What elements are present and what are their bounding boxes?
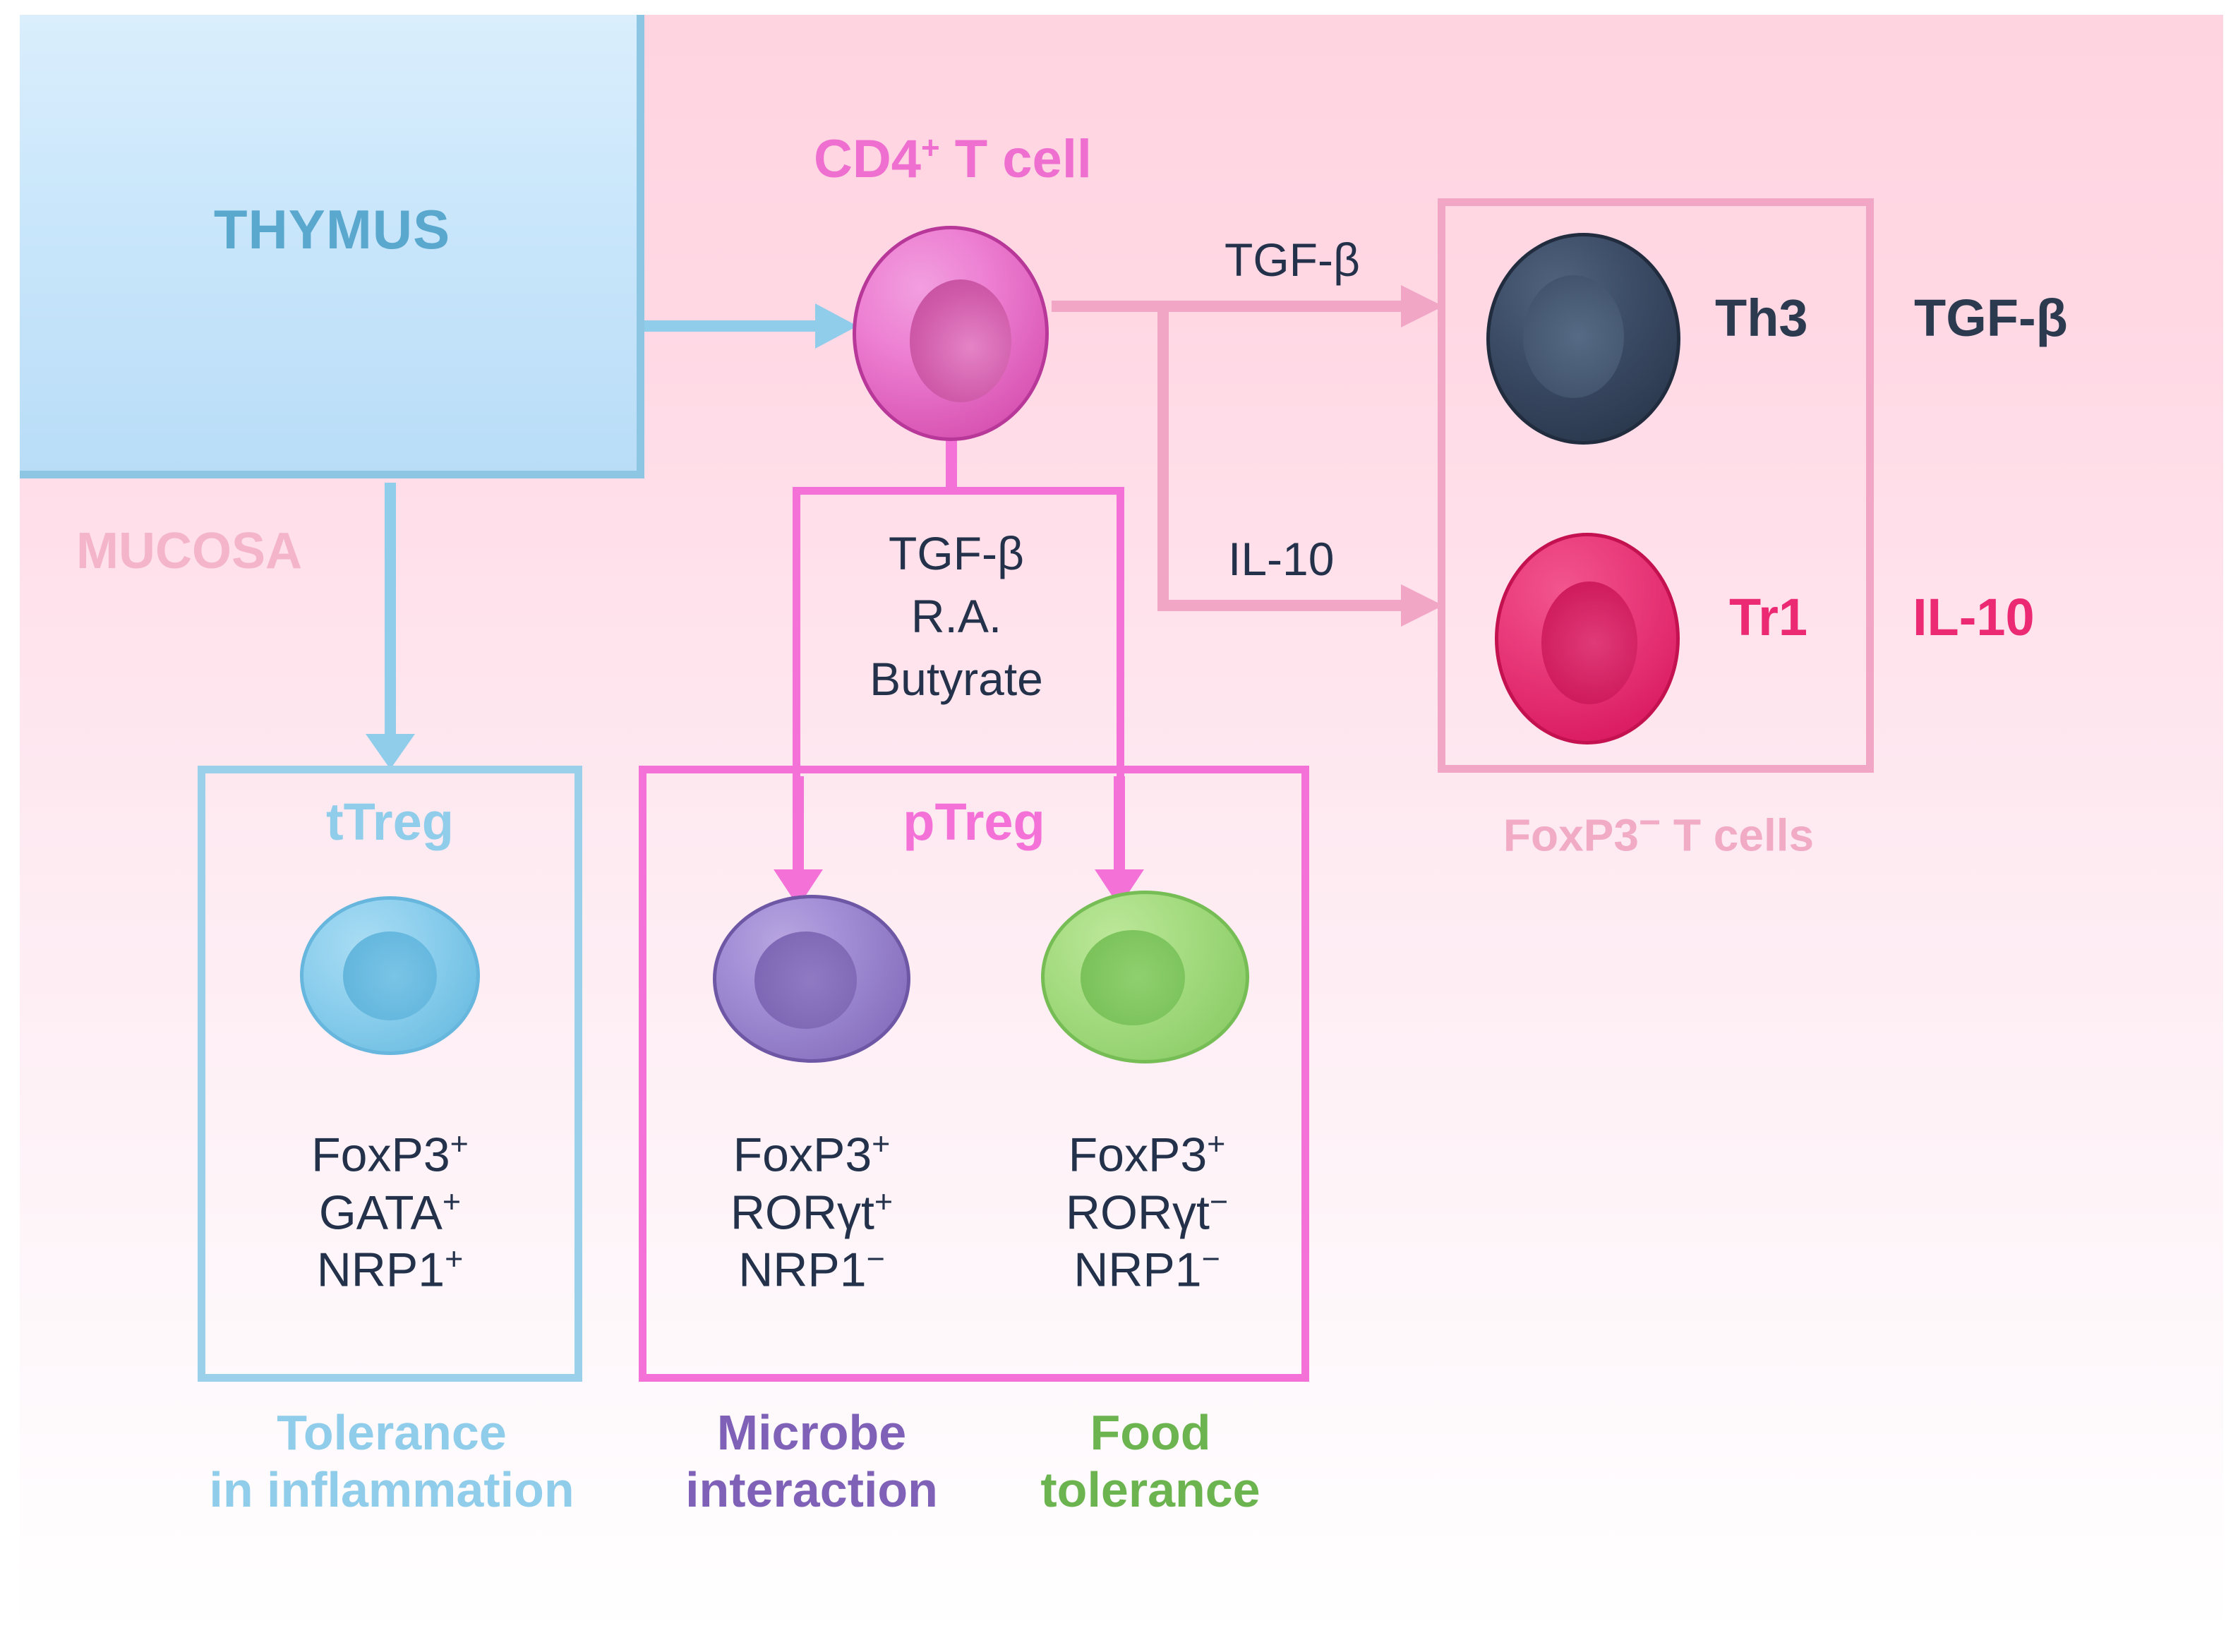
th3-cytokine-label: TGF-β	[1914, 288, 2068, 348]
function-line-1: Microbe	[635, 1404, 988, 1461]
tr1-cell-label: Tr1	[1729, 587, 1807, 647]
cell-nucleus	[1523, 275, 1624, 398]
cell-nucleus	[754, 931, 858, 1029]
cd4-t-cell-label-superscript: +	[921, 130, 940, 166]
marker-item: NRP1−	[670, 1241, 953, 1298]
marker-sign: −	[1639, 802, 1661, 843]
ttreg-cell-icon	[300, 896, 480, 1055]
marker-sign: +	[872, 1126, 890, 1162]
tr1-cytokine-label: IL-10	[1913, 587, 2035, 647]
mucosa-label: MUCOSA	[76, 522, 302, 580]
function-line-2: tolerance	[995, 1461, 1306, 1519]
ptreg-panel-title: pTreg	[639, 792, 1309, 852]
diagram-canvas: THYMUS MUCOSA CD4+ T cell TGF-β IL-10 TG…	[0, 0, 2238, 1652]
ttreg-function-caption: Tolerance in inflammation	[155, 1404, 628, 1518]
cell-nucleus	[1081, 930, 1185, 1025]
function-line-2: in inflammation	[155, 1461, 628, 1519]
marker-item: GATA+	[198, 1183, 582, 1241]
marker-sign: −	[1210, 1183, 1228, 1219]
function-line-2: interaction	[635, 1461, 988, 1519]
ptreg-food-marker-list: FoxP3+ RORγt− NRP1−	[1002, 1126, 1292, 1298]
cell-nucleus	[1541, 581, 1637, 704]
ttreg-marker-list: FoxP3+ GATA+ NRP1+	[198, 1126, 582, 1298]
marker-sign: +	[443, 1183, 461, 1219]
marker-item: RORγt−	[1002, 1183, 1292, 1241]
ptreg-microbe-cell-icon	[713, 895, 910, 1063]
function-line-1: Tolerance	[155, 1404, 628, 1461]
marker-sign: +	[1207, 1126, 1225, 1162]
tr1-cell-icon	[1495, 533, 1680, 744]
cell-nucleus	[910, 279, 1012, 402]
marker-item: NRP1+	[198, 1241, 582, 1298]
marker-item: RORγt+	[670, 1183, 953, 1241]
th3-cell-icon	[1486, 233, 1680, 445]
cd4-t-cell-label-suffix: T cell	[940, 129, 1092, 189]
cd4-t-cell-label-prefix: CD4	[814, 129, 921, 189]
ptreg-microbe-function-caption: Microbe interaction	[635, 1404, 988, 1518]
marker-sign: −	[867, 1241, 885, 1277]
marker-item: FoxP3+	[1002, 1126, 1292, 1183]
ttreg-panel-title: tTreg	[198, 792, 582, 852]
mediator-line-2: R.A.	[815, 585, 1097, 648]
marker-sign: −	[1202, 1241, 1220, 1277]
cell-nucleus	[343, 931, 437, 1020]
ptreg-food-cell-icon	[1041, 891, 1249, 1063]
cd4-t-cell-icon	[853, 226, 1049, 441]
ptreg-food-function-caption: Food tolerance	[995, 1404, 1306, 1518]
th3-cell-label: Th3	[1715, 288, 1808, 348]
marker-sign: +	[874, 1183, 893, 1219]
marker-item: FoxP3+	[670, 1126, 953, 1183]
foxp3-negative-panel-caption: FoxP3− T cells	[1390, 801, 1927, 861]
marker-sign: +	[450, 1126, 469, 1162]
marker-sign: +	[445, 1241, 463, 1277]
il10-arrow-label: IL-10	[1228, 532, 1334, 586]
mediator-line-3: Butyrate	[815, 648, 1097, 711]
marker-item: NRP1−	[1002, 1241, 1292, 1298]
marker-item: FoxP3+	[198, 1126, 582, 1183]
mediator-line-1: TGF-β	[815, 522, 1097, 585]
thymus-label: THYMUS	[20, 198, 644, 262]
ptreg-microbe-marker-list: FoxP3+ RORγt+ NRP1−	[670, 1126, 953, 1298]
tgfb-arrow-label: TGF-β	[1225, 233, 1360, 287]
ptreg-mediator-list: TGF-β R.A. Butyrate	[815, 522, 1097, 711]
cd4-t-cell-label: CD4+ T cell	[748, 128, 1157, 190]
function-line-1: Food	[995, 1404, 1306, 1461]
